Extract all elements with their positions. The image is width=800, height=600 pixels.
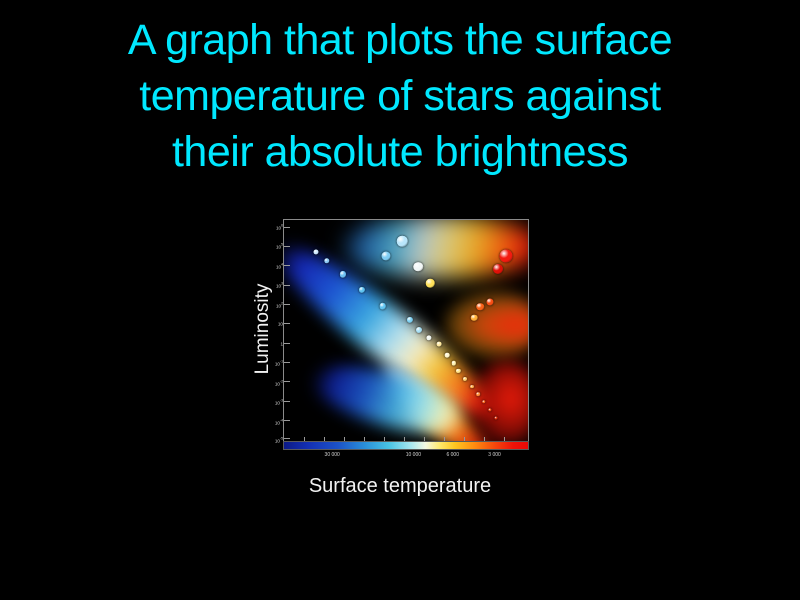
y-axis-tick-label: 105 xyxy=(276,243,283,250)
star-marker xyxy=(500,249,513,262)
page-title: A graph that plots the surface temperatu… xyxy=(0,12,800,180)
star-marker xyxy=(495,416,498,419)
star-marker xyxy=(313,249,318,254)
y-axis-tick-label: 10-3 xyxy=(275,399,283,406)
star-marker xyxy=(476,392,480,396)
y-axis-tick-mark xyxy=(284,246,290,247)
y-axis-tick-mark xyxy=(284,227,290,228)
star-marker xyxy=(463,377,467,381)
y-axis-tick-label: 10-4 xyxy=(275,419,283,426)
y-axis-tick-mark xyxy=(284,420,290,421)
x-axis-tick-label: 30 000 xyxy=(325,452,340,458)
hr-diagram-figure: Luminosity 10610510410310210110-110-210-… xyxy=(225,210,545,510)
y-axis-tick-label: 104 xyxy=(276,262,283,269)
star-marker xyxy=(437,341,442,346)
star-marker xyxy=(487,299,494,306)
temperature-spectrum-bar xyxy=(283,441,529,450)
x-axis-tick-label: 10 000 xyxy=(406,452,421,458)
main-sequence-band xyxy=(283,228,507,435)
star-marker xyxy=(380,303,387,310)
y-axis-tick-label: 103 xyxy=(276,282,283,289)
y-axis-tick-labels: 10610510410310210110-110-210-310-410-5 xyxy=(253,215,283,443)
star-marker xyxy=(426,279,435,288)
y-axis-tick-mark xyxy=(284,438,290,439)
x-axis-tick-label: 6 000 xyxy=(446,452,459,458)
y-axis-tick-mark xyxy=(284,343,290,344)
y-axis-tick-label: 10-1 xyxy=(275,360,283,367)
star-marker xyxy=(397,236,408,247)
y-axis-tick-label: 10-2 xyxy=(275,380,283,387)
x-axis-tick-labels: 30 00010 0006 0003 000 xyxy=(283,452,529,464)
y-axis-tick-mark xyxy=(284,304,290,305)
star-marker xyxy=(416,327,422,333)
plot-area xyxy=(283,219,529,443)
y-axis-tick-mark xyxy=(284,381,290,382)
y-axis-tick-label: 106 xyxy=(276,223,283,230)
x-axis-tick-label: 3 000 xyxy=(488,452,501,458)
star-marker xyxy=(493,264,503,274)
y-axis-tick-mark xyxy=(284,265,290,266)
star-marker xyxy=(382,251,391,260)
y-axis-tick-mark xyxy=(284,362,290,363)
y-axis-tick-mark xyxy=(284,285,290,286)
y-axis-tick-mark xyxy=(284,401,290,402)
star-marker xyxy=(470,385,474,389)
x-axis-title: Surface temperature xyxy=(255,475,545,498)
y-axis-tick-mark xyxy=(284,323,290,324)
star-marker xyxy=(445,353,450,358)
star-marker xyxy=(471,314,478,321)
star-marker xyxy=(413,262,423,272)
y-axis-tick-label: 10-5 xyxy=(275,437,283,444)
y-axis-tick-label: 102 xyxy=(276,302,283,309)
star-marker xyxy=(477,303,485,311)
